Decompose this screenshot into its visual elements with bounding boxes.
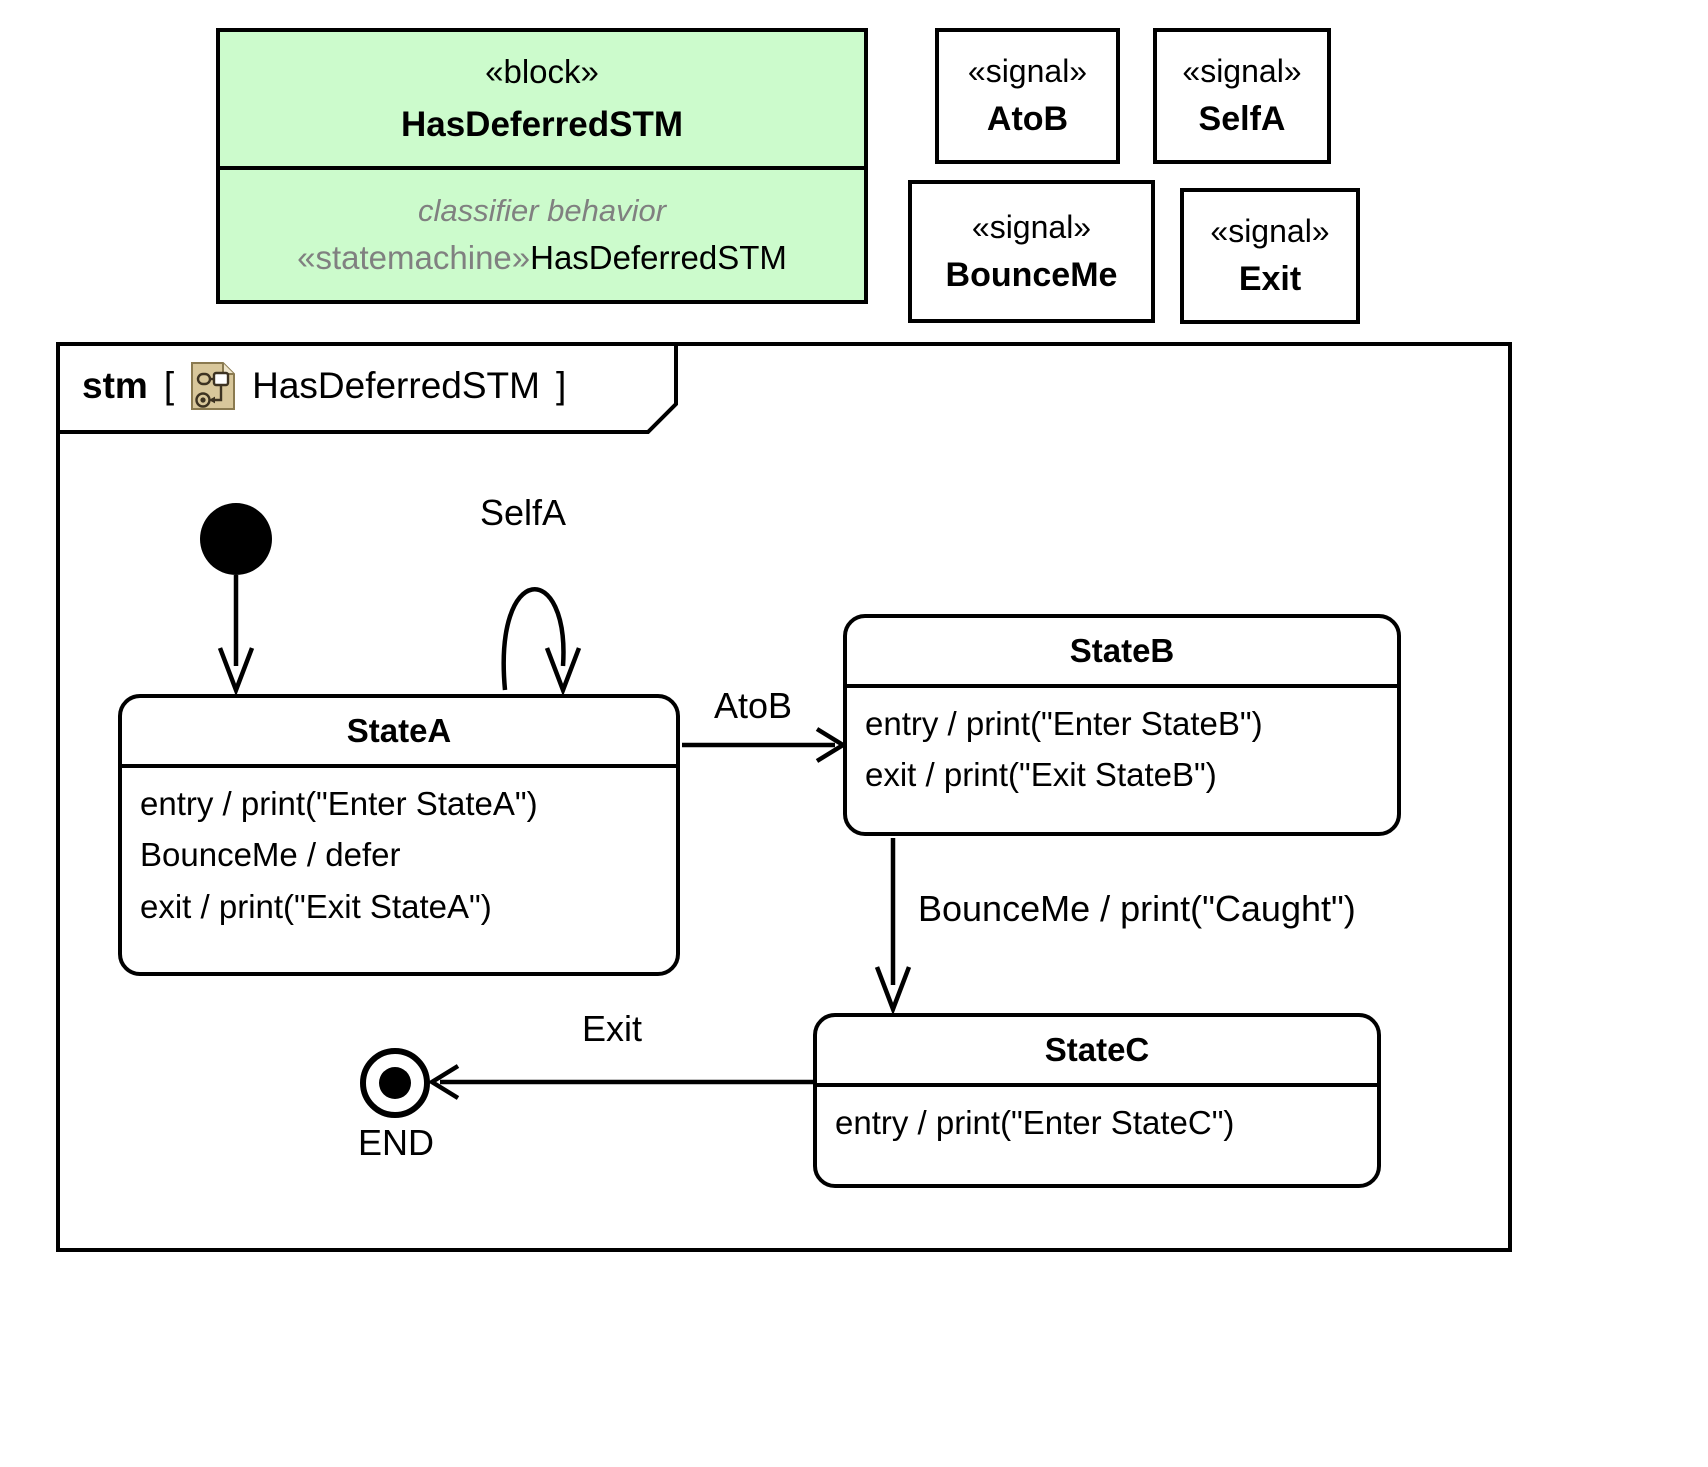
state-statec[interactable]: StateC entry / print("Enter StateC") — [813, 1013, 1381, 1188]
signal-stereotype: «signal» — [968, 53, 1087, 90]
signal-name: AtoB — [987, 100, 1068, 139]
state-name: StateA — [122, 698, 676, 764]
frame-bracket-close: ] — [556, 365, 566, 407]
block-name: HasDeferredSTM — [401, 105, 683, 145]
signal-stereotype: «signal» — [1210, 213, 1329, 250]
block-stereotype: «block» — [485, 53, 599, 91]
classifier-behavior-value: «statemachine»HasDeferredSTM — [297, 239, 787, 277]
signal-box-atob[interactable]: «signal» AtoB — [935, 28, 1120, 164]
signal-name: SelfA — [1199, 100, 1286, 139]
signal-box-bounceme[interactable]: «signal» BounceMe — [908, 180, 1155, 323]
block-header-compartment: «block» HasDeferredSTM — [220, 32, 864, 170]
edge-label-atob: AtoB — [714, 685, 792, 727]
frame-bracket-open: [ — [164, 365, 174, 407]
final-state[interactable] — [360, 1048, 430, 1118]
signal-box-exit[interactable]: «signal» Exit — [1180, 188, 1360, 324]
frame-diagram-name: HasDeferredSTM — [252, 365, 540, 407]
edge-label-bounceme: BounceMe / print("Caught") — [918, 888, 1356, 930]
classifier-stereotype: «statemachine» — [297, 239, 530, 276]
state-behavior-list: entry / print("Enter StateB") exit / pri… — [847, 688, 1397, 807]
classifier-name: HasDeferredSTM — [530, 239, 787, 276]
edge-label-selfa: SelfA — [480, 492, 566, 534]
state-statea[interactable]: StateA entry / print("Enter StateA") Bou… — [118, 694, 680, 976]
state-behavior-entry: entry / print("Enter StateB") — [865, 698, 1379, 749]
state-behavior-list: entry / print("Enter StateC") — [817, 1087, 1377, 1154]
frame-kind-label: stm — [82, 365, 148, 407]
classifier-behavior-label: classifier behavior — [418, 193, 666, 229]
statemachine-diagram-icon — [190, 361, 236, 411]
state-stateb[interactable]: StateB entry / print("Enter StateB") exi… — [843, 614, 1401, 836]
state-behavior-list: entry / print("Enter StateA") BounceMe /… — [122, 768, 676, 938]
state-behavior-defer: BounceMe / defer — [140, 829, 658, 880]
edge-label-exit: Exit — [582, 1008, 642, 1050]
state-behavior-entry: entry / print("Enter StateC") — [835, 1097, 1359, 1148]
block-behavior-compartment: classifier behavior «statemachine»HasDef… — [220, 170, 864, 300]
signal-name: BounceMe — [946, 256, 1118, 295]
state-name: StateC — [817, 1017, 1377, 1083]
state-behavior-entry: entry / print("Enter StateA") — [140, 778, 658, 829]
final-state-label: END — [336, 1122, 456, 1164]
state-name: StateB — [847, 618, 1397, 684]
signal-stereotype: «signal» — [1182, 53, 1301, 90]
diagram-canvas: «block» HasDeferredSTM classifier behavi… — [0, 0, 1708, 1467]
frame-header-tab: stm [ HasDeferredSTM ] — [56, 342, 681, 432]
signal-name: Exit — [1239, 260, 1301, 299]
block-definition-hasdeferredstm[interactable]: «block» HasDeferredSTM classifier behavi… — [216, 28, 868, 304]
initial-pseudostate[interactable] — [200, 503, 272, 575]
state-behavior-exit: exit / print("Exit StateB") — [865, 749, 1379, 800]
state-behavior-exit: exit / print("Exit StateA") — [140, 881, 658, 932]
signal-stereotype: «signal» — [972, 209, 1091, 246]
signal-box-selfa[interactable]: «signal» SelfA — [1153, 28, 1331, 164]
